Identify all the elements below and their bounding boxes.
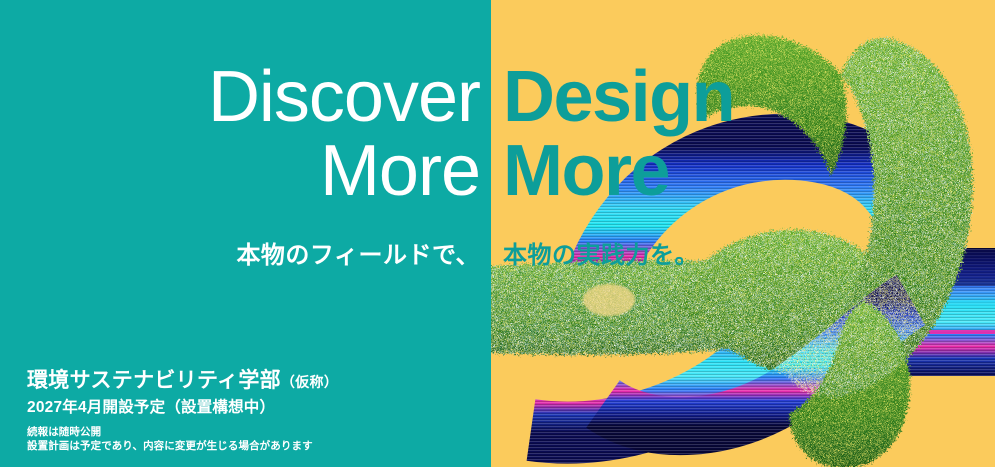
headline-left-line1: Discover: [0, 60, 480, 134]
headline-left-line2: More: [0, 134, 480, 208]
tagline-left: 本物のフィールドで、: [0, 241, 491, 271]
headline-right: Design More: [503, 60, 734, 208]
headline-right-line2: More: [503, 134, 734, 208]
faculty-info-block: 環境サステナビリティ学部（仮称） 2027年4月開設予定（設置構想中） 続報は随…: [27, 368, 338, 453]
tagline-right: 本物の実践力を。: [503, 241, 699, 271]
headline-left: Discover More: [0, 60, 491, 208]
opening-date: 2027年4月開設予定（設置構想中）: [27, 398, 338, 417]
headline-right-line1: Design: [503, 60, 734, 134]
promotional-banner: Discover More Design More 本物のフィールドで、 本物の…: [0, 0, 995, 467]
note-line-1: 続報は随時公開: [27, 425, 338, 439]
note-line-2: 設置計画は予定であり、内容に変更が生じる場合があります: [27, 439, 338, 453]
faculty-name-suffix: （仮称）: [281, 374, 338, 390]
faculty-name: 環境サステナビリティ学部（仮称）: [27, 368, 338, 395]
disclaimer-notes: 続報は随時公開 設置計画は予定であり、内容に変更が生じる場合があります: [27, 425, 338, 453]
faculty-name-text: 環境サステナビリティ学部: [27, 369, 281, 392]
